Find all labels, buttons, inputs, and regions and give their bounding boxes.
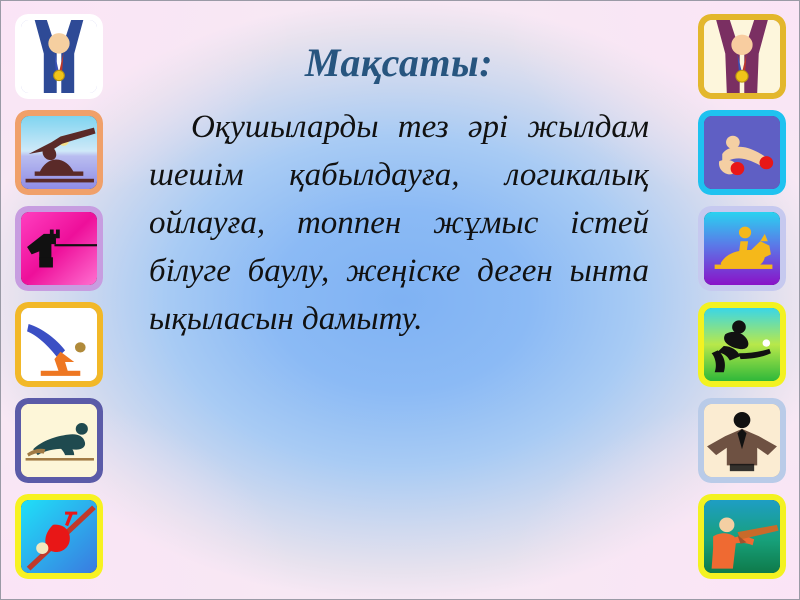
fencing-glyph (21, 212, 97, 285)
judo-icon (698, 398, 786, 483)
medal-winner-icon (15, 14, 103, 99)
gymnastics-pommel-glyph (21, 308, 97, 381)
slide-body-text: Оқушыларды тез әрі жылдам шешім қабылдау… (149, 103, 649, 343)
ski-jump-icon (15, 494, 103, 579)
gymnastics-pommel-icon (15, 302, 103, 387)
medal-winner-glyph (704, 20, 780, 93)
boxing-glyph (704, 116, 780, 189)
presentation-slide: Мақсаты: Оқушыларды тез әрі жылдам шешім… (0, 0, 800, 600)
rowing-glyph (21, 116, 97, 189)
medal-winner-icon (698, 14, 786, 99)
ski-jump-glyph (21, 500, 97, 573)
sport-icon-strip-left (15, 14, 103, 579)
sport-icon-strip-right (698, 14, 786, 579)
equestrian-icon (698, 206, 786, 291)
medal-winner-glyph (21, 20, 97, 93)
field-hockey-icon (698, 302, 786, 387)
luge-glyph (21, 404, 97, 477)
fencing-icon (15, 206, 103, 291)
shooting-glyph (704, 500, 780, 573)
slide-content: Мақсаты: Оқушыларды тез әрі жылдам шешім… (149, 41, 649, 343)
boxing-icon (698, 110, 786, 195)
shooting-icon (698, 494, 786, 579)
rowing-icon (15, 110, 103, 195)
equestrian-glyph (704, 212, 780, 285)
page-title: Мақсаты: (149, 41, 649, 85)
judo-glyph (704, 404, 780, 477)
luge-icon (15, 398, 103, 483)
field-hockey-glyph (704, 308, 780, 381)
